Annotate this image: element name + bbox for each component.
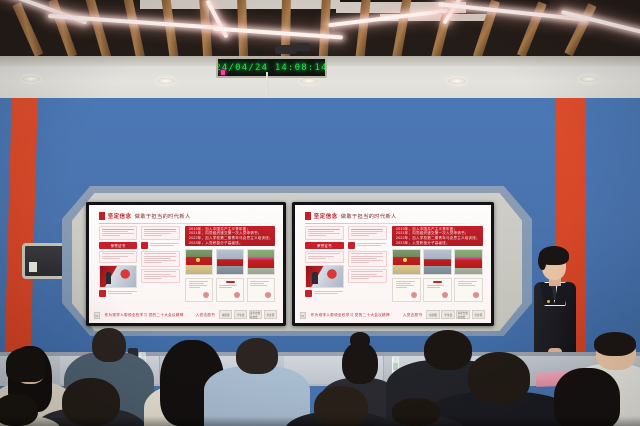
presenter	[522, 244, 584, 366]
led-clock-board: 24/04/24 14:08:14	[216, 57, 327, 78]
bottom-shadow	[0, 416, 640, 426]
mini-card	[99, 226, 138, 240]
group-photo	[185, 249, 213, 275]
logo-chip: 学生会	[441, 310, 455, 319]
slide-title-main: 坚定信念	[314, 212, 338, 220]
led-clock-text: 24/04/24 14:08:14	[216, 63, 327, 73]
logo-chip: 青年志愿者协会	[249, 310, 262, 319]
photo-row	[185, 249, 275, 275]
mini-card	[99, 251, 138, 263]
slide-page-mark: 01	[94, 312, 100, 319]
slide-column-b	[141, 226, 180, 304]
seal-icon	[234, 292, 240, 298]
slide-title-sub: 做敢于担当的时代新人	[341, 213, 397, 220]
left-display[interactable]: 坚定信念 做敢于担当的时代新人 荣誉证书	[86, 202, 286, 326]
logo-chip: 党支部	[264, 310, 277, 319]
portrait-photo	[99, 265, 138, 288]
logo-chip: 校团委	[426, 310, 440, 319]
group-photo	[392, 249, 421, 275]
certificate	[216, 278, 244, 301]
badge-row	[348, 242, 387, 249]
downlight-icon	[448, 78, 466, 84]
photo-row	[392, 249, 483, 275]
slide-column-a: 荣誉证书	[305, 226, 344, 304]
seal-icon	[473, 292, 479, 298]
red-chip: 荣誉证书	[99, 242, 138, 249]
panel-indicator	[29, 262, 37, 272]
seal-icon	[442, 292, 448, 298]
presenter-hair-side	[538, 254, 546, 270]
certificate	[423, 278, 452, 301]
seal-icon	[265, 292, 271, 298]
mini-card	[348, 226, 387, 240]
badge-icon	[141, 242, 148, 249]
group-photo	[216, 249, 244, 275]
red-chip: 荣誉证书	[305, 242, 344, 249]
slide-title-sub: 做敢于担当的时代新人	[135, 213, 191, 220]
group-photo	[423, 249, 452, 275]
slide-page-mark: 01	[300, 312, 306, 319]
certificate	[392, 278, 421, 301]
mini-card	[141, 269, 180, 283]
badge-icon	[99, 290, 106, 297]
red-chip-label: 荣誉证书	[111, 243, 126, 248]
red-timeline-block: 2019年，加入中国共产主义青年团； 2021年，向党组织递交第一次入党申请书；…	[392, 226, 483, 246]
lapel-pin-icon	[547, 300, 550, 303]
slide-caption-left: 作为领学人带领全校学习 党的二十大会议精神	[105, 313, 163, 318]
slide-caption-left: 作为领学人带领全校学习 党的二十大会议精神	[311, 313, 370, 318]
red-timeline-block: 2019年，加入中国共产主义青年团； 2021年，向党组织递交第一次入党申请书；…	[185, 226, 275, 246]
downlight-icon	[22, 76, 40, 82]
red-block-line: 2023年，入党积极分子高级班。	[396, 242, 479, 246]
portrait-photo	[305, 265, 344, 288]
slide-column-a: 荣誉证书	[99, 226, 138, 304]
mini-card	[348, 269, 387, 283]
downlight-icon	[300, 78, 318, 84]
group-photo	[454, 249, 483, 275]
mini-card	[305, 251, 344, 263]
downlight-icon	[580, 76, 598, 82]
title-marker-icon	[305, 212, 311, 220]
red-block-line: 2022年，加入学校第二期青年马克思主义培训班；	[189, 237, 271, 241]
certificate	[247, 278, 275, 301]
certificate	[185, 278, 213, 301]
logo-chip: 党支部	[472, 310, 486, 319]
badge-row	[141, 242, 180, 249]
group-photo	[247, 249, 275, 275]
logo-strip: 校团委 学生会 青年志愿者协会 党支部	[426, 310, 485, 319]
mini-card	[141, 226, 180, 240]
slide-column-b	[348, 226, 387, 304]
slide-column-c: 2019年，加入中国共产主义青年团； 2021年，向党组织递交第一次入党申请书；…	[185, 226, 275, 304]
certificate-row	[185, 278, 275, 301]
seal-icon	[411, 292, 417, 298]
slide-title-row: 坚定信念 做敢于担当的时代新人	[99, 210, 276, 223]
mini-card	[305, 226, 344, 240]
slide-title-row: 坚定信念 做敢于担当的时代新人	[305, 210, 483, 223]
logo-chip: 学生会	[234, 310, 247, 319]
logo-chip: 校团委	[219, 310, 232, 319]
slide-column-c: 2019年，加入中国共产主义青年团； 2021年，向党组织递交第一次入党申请书；…	[392, 226, 483, 304]
red-block-line: 2023年，入党积极分子高级班。	[189, 242, 271, 246]
title-divider	[305, 223, 483, 224]
badge-row	[99, 290, 138, 297]
slide-caption-mid: 入党志愿书	[190, 313, 221, 318]
ceiling-speaker-icon	[275, 45, 297, 54]
seal-icon	[203, 292, 209, 298]
slide-content-right: 坚定信念 做敢于担当的时代新人 荣誉证书	[295, 205, 491, 323]
red-chip-label: 荣誉证书	[317, 243, 332, 248]
logo-strip: 校团委 学生会 青年志愿者协会 党支部	[219, 310, 277, 319]
slide-caption-mid: 入党志愿书	[397, 313, 428, 318]
logo-chip: 青年志愿者协会	[456, 310, 470, 319]
red-block-line: 2022年，加入学校第二期青年马克思主义培训班；	[396, 237, 479, 241]
title-divider	[99, 223, 276, 224]
badge-icon	[348, 242, 355, 249]
badge-icon	[305, 290, 312, 297]
title-marker-icon	[99, 212, 105, 220]
ceiling-camera-icon	[296, 43, 310, 51]
certificate-row	[392, 278, 483, 301]
certificate-title-bar	[433, 281, 442, 283]
slide-content-left: 坚定信念 做敢于担当的时代新人 荣誉证书	[89, 205, 283, 323]
certificate-title-bar	[226, 281, 235, 283]
presentation-hall-scene: 24/04/24 14:08:14 坚定信念 做敢于担当的时代新人	[0, 0, 640, 426]
mini-card	[348, 251, 387, 267]
mini-card	[141, 251, 180, 267]
right-display[interactable]: 坚定信念 做敢于担当的时代新人 荣誉证书	[292, 202, 494, 326]
badge-row	[305, 290, 344, 297]
slide-title-main: 坚定信念	[108, 212, 132, 220]
certificate	[454, 278, 483, 301]
led-status-dot	[221, 70, 225, 75]
ceiling	[0, 0, 640, 58]
downlight-icon	[157, 78, 175, 84]
